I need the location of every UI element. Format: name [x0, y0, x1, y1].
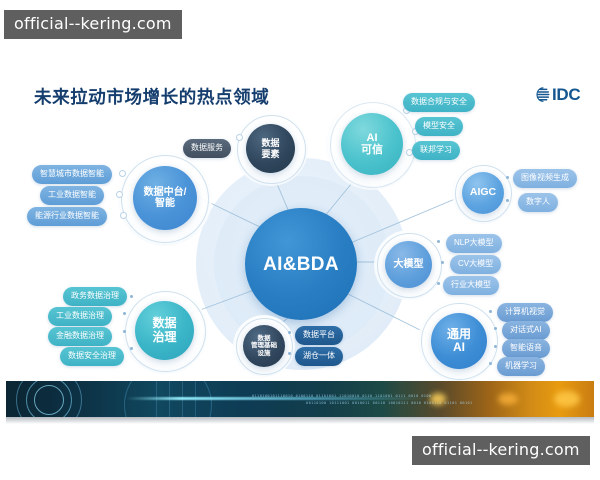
- aigc-ring-dot-1: [506, 176, 509, 179]
- decorative-tech-banner: 0110100101110010 0100110 01101001 110100…: [6, 381, 594, 417]
- node-line-2: 可信: [361, 144, 383, 156]
- pill-model-security[interactable]: 模型安全: [415, 117, 463, 136]
- data-governance-ring-dot-4: [130, 347, 133, 350]
- large-model-ring-dot-1: [437, 240, 440, 243]
- general-ai-ring-dot-3: [494, 345, 497, 348]
- pill-data-service[interactable]: 数据服务: [183, 139, 231, 158]
- pill-data-platform[interactable]: 数据平台: [295, 326, 343, 345]
- node-data-midplatform-label: 数据中台/ 智能: [144, 187, 187, 209]
- data-infra-ring-dot-1: [288, 331, 291, 334]
- node-large-model[interactable]: 大模型: [385, 241, 432, 288]
- banner-drop-shadow: [6, 417, 594, 424]
- watermark-top: official--kering.com: [4, 10, 182, 39]
- hub-node-ai-bda[interactable]: AI&BDA: [245, 208, 357, 320]
- banner-binary-row-1: 0110100101110010 0100110 01101001 110100…: [252, 394, 431, 398]
- aigc-ring-dot-2: [506, 199, 509, 202]
- node-line-2: AI: [453, 340, 465, 354]
- node-aigc-label: AIGC: [470, 187, 496, 199]
- pill-financial-data-governance[interactable]: 金融数据治理: [48, 327, 112, 346]
- data-midplatform-ring-dot-2: [116, 191, 123, 198]
- node-general-ai-label: 通用 AI: [447, 328, 471, 355]
- hud-ring-3: [34, 385, 64, 415]
- node-data-element-label: 数据 要素: [261, 138, 279, 158]
- node-data-midplatform[interactable]: 数据中台/ 智能: [133, 166, 197, 230]
- node-data-governance-label: 数据 治理: [152, 317, 176, 344]
- watermark-bottom: official--kering.com: [412, 436, 590, 465]
- data-governance-ring-dot-3: [123, 330, 126, 333]
- large-model-ring-dot-2: [441, 261, 444, 264]
- banner-binary-row-2: 00110100 10111001 0010011 00110 10010111…: [306, 401, 473, 405]
- node-line-2: 智能: [155, 198, 175, 209]
- hub-label: AI&BDA: [263, 255, 339, 274]
- node-general-ai[interactable]: 通用 AI: [431, 313, 487, 369]
- node-data-element[interactable]: 数据 要素: [246, 124, 295, 173]
- node-line-1: AI: [367, 132, 378, 144]
- data-governance-ring-dot-2: [123, 312, 126, 315]
- banner-glow-3: [554, 391, 580, 407]
- node-aigc[interactable]: AIGC: [462, 172, 504, 214]
- node-line-1: 数据: [152, 316, 176, 330]
- general-ai-ring-dot-2: [494, 327, 497, 330]
- pill-industrial-data-intelligence[interactable]: 工业数据智能: [40, 186, 104, 205]
- pill-lakehouse-integration[interactable]: 湖仓一体: [295, 347, 343, 366]
- pill-data-security-governance[interactable]: 数据安全治理: [60, 347, 124, 366]
- node-line-2: 管理基础: [251, 342, 277, 349]
- pill-industry-large-model[interactable]: 行业大模型: [443, 276, 499, 295]
- data-midplatform-ring-dot-1: [119, 170, 126, 177]
- pill-data-compliance-security[interactable]: 数据合规与安全: [403, 93, 475, 112]
- data-infra-ring-dot-2: [288, 352, 291, 355]
- data-element-ring-dot-1: [236, 134, 243, 141]
- general-ai-ring-dot-4: [489, 362, 492, 365]
- pill-smart-city-data-intelligence[interactable]: 智慧城市数据智能: [32, 165, 112, 184]
- pill-machine-learning[interactable]: 机器学习: [497, 357, 545, 376]
- pill-digital-human[interactable]: 数字人: [518, 193, 558, 212]
- banner-glow-2: [498, 393, 518, 405]
- pill-cv-large-model[interactable]: CV大模型: [450, 255, 501, 274]
- node-line-1: 通用: [447, 327, 471, 341]
- pill-computer-vision[interactable]: 计算机视觉: [497, 303, 553, 322]
- node-ai-trusted[interactable]: AI 可信: [341, 113, 403, 175]
- large-model-ring-dot-3: [437, 282, 440, 285]
- node-line-1: 数据中台/: [144, 187, 187, 198]
- node-data-infrastructure-label: 数据 管理基础 设施: [251, 335, 277, 357]
- node-large-model-label: 大模型: [394, 259, 424, 270]
- pill-nlp-large-model[interactable]: NLP大模型: [446, 234, 502, 253]
- node-ai-trusted-label: AI 可信: [361, 132, 383, 157]
- node-line-2: 治理: [152, 330, 176, 344]
- pill-industrial-data-governance[interactable]: 工业数据治理: [48, 307, 112, 326]
- pill-image-video-generation[interactable]: 图像视频生成: [513, 169, 577, 188]
- data-governance-ring-dot-1: [130, 295, 133, 298]
- node-data-governance[interactable]: 数据 治理: [135, 301, 194, 360]
- pill-intelligent-speech[interactable]: 智能语音: [502, 339, 550, 358]
- pill-federated-learning[interactable]: 联邦学习: [412, 141, 460, 160]
- data-midplatform-ring-dot-3: [120, 212, 127, 219]
- banner-glow-1: [430, 393, 446, 405]
- general-ai-ring-dot-1: [489, 310, 492, 313]
- node-line-2: 要素: [261, 149, 279, 159]
- pill-conversational-ai[interactable]: 对话式AI: [502, 321, 550, 340]
- pill-energy-industry-data-intelligence[interactable]: 能源行业数据智能: [27, 207, 107, 226]
- node-line-1: 数据: [261, 138, 279, 148]
- node-line-3: 设施: [258, 350, 271, 357]
- node-data-infrastructure[interactable]: 数据 管理基础 设施: [243, 325, 285, 367]
- slide-canvas: 未来拉动市场增长的热点领域 IDC: [0, 0, 600, 480]
- pill-government-data-governance[interactable]: 政务数据治理: [63, 287, 127, 306]
